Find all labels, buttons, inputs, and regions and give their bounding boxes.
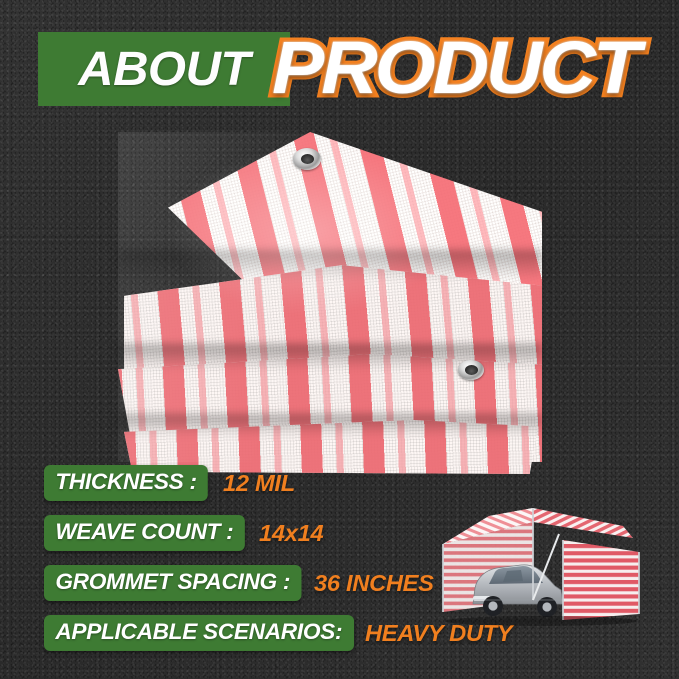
about-banner: ABOUT [38, 32, 290, 106]
spec-label-thickness: THICKNESS : [44, 465, 208, 501]
header-title-about: ABOUT [35, 32, 292, 106]
carport-side-wall [563, 540, 639, 620]
grommet-ring-right-icon [458, 360, 484, 380]
car-illustration [473, 565, 563, 617]
carport-ground-shadow [445, 616, 637, 626]
spec-value-grommet-spacing: 36 INCHES [314, 570, 434, 597]
header: ABOUT PRODUCT [0, 30, 679, 108]
header-title-product: PRODUCT [272, 22, 638, 114]
inset-photo-carport [437, 508, 649, 626]
product-photo-tarp [118, 132, 542, 462]
spec-value-thickness: 12 MIL [223, 470, 295, 497]
grommet-ring-top-icon [293, 148, 321, 170]
spec-label-weave-count: WEAVE COUNT : [44, 515, 245, 551]
spec-label-grommet-spacing: GROMMET SPACING : [44, 565, 301, 601]
spec-value-weave-count: 14x14 [259, 520, 323, 547]
carport-roof-left [533, 508, 633, 538]
spec-row-thickness: THICKNESS : 12 MIL [0, 458, 679, 508]
infographic-page: ABOUT PRODUCT THICKNESS : 12 MIL [0, 0, 679, 679]
spec-label-applicable-scenarios: APPLICABLE SCENARIOS: [44, 615, 354, 651]
